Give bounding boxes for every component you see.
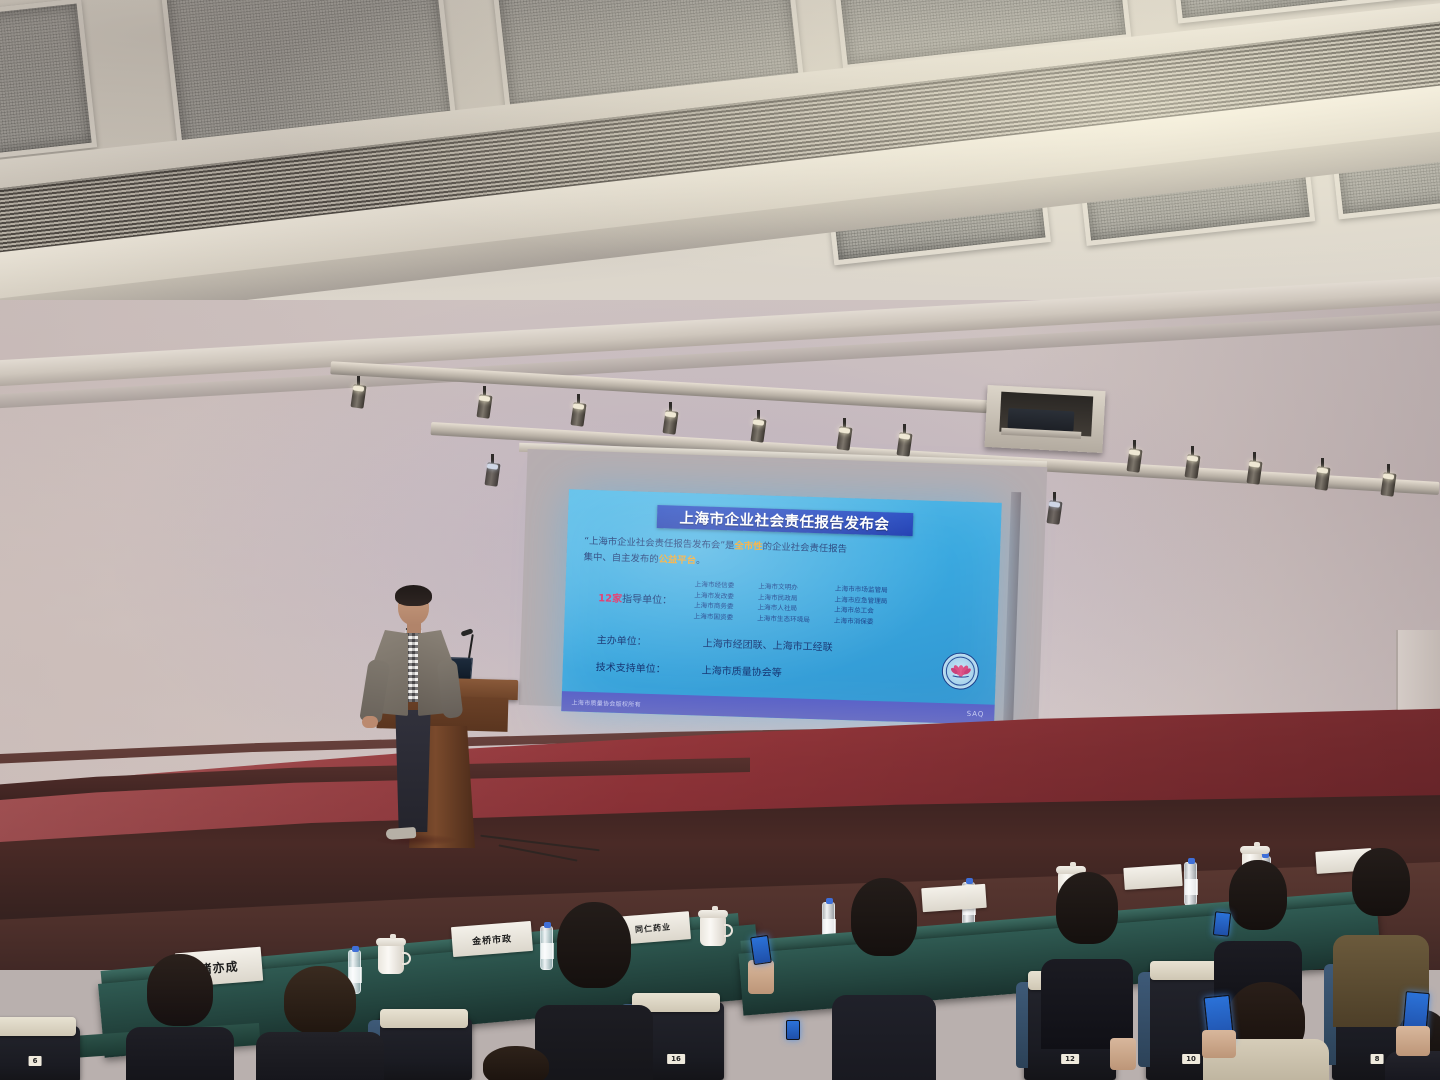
audience-chair: 6 — [0, 1026, 80, 1080]
ceiling-projector-housing — [984, 385, 1105, 453]
tech-support-row: 技术支持单位： 上海市质量协会等 — [574, 657, 985, 685]
hand — [748, 960, 774, 994]
stage-spotlight — [1128, 440, 1141, 474]
stage-spotlight — [1186, 446, 1199, 480]
guiding-units-count: 12家 — [598, 593, 622, 605]
magnolia-flower-icon — [950, 660, 971, 684]
audience-member — [260, 966, 380, 1080]
audience-member — [1336, 848, 1426, 998]
paragraph-part3: 集中、自主发布的 — [583, 551, 658, 564]
paragraph-highlight-platform: 公益平台 — [658, 554, 696, 566]
audience-member — [130, 954, 230, 1080]
organizers-row: 主办单位： 上海市经团联、上海市工经联 — [575, 630, 986, 658]
smartphone[interactable] — [750, 935, 772, 965]
audience-member — [462, 1046, 570, 1080]
audience-member — [836, 878, 932, 1080]
slide-footer: 上海市质量协会版权所有 SAQ — [561, 691, 994, 725]
stage-spotlight — [1316, 458, 1329, 492]
stage-spotlight — [838, 418, 851, 452]
guiding-unit-item: 上海市消保委 — [834, 616, 887, 628]
tech-support-label: 技术支持单位： — [596, 658, 702, 676]
slide-footer-copyright: 上海市质量协会版权所有 — [571, 697, 641, 708]
hand — [1396, 1026, 1430, 1056]
paragraph-highlight-citywide: 全市性 — [734, 540, 763, 552]
stage-spotlight — [1382, 464, 1395, 498]
smartphone[interactable] — [786, 1020, 800, 1040]
seat-number: 6 — [29, 1056, 42, 1066]
name-card: 金桥市政 — [451, 921, 533, 957]
guiding-units-columns: 上海市经信委 上海市发改委 上海市商务委 上海市国资委 上海市文明办 上海市民政… — [693, 579, 887, 628]
guiding-units-row: 12家指导单位： 上海市经信委 上海市发改委 上海市商务委 上海市国资委 上海市… — [575, 576, 987, 632]
stage-spotlight — [1248, 452, 1261, 486]
seat-number: 16 — [667, 1054, 685, 1064]
stage-spotlight — [486, 454, 499, 488]
stage-spotlight — [664, 402, 677, 436]
presenter-shoe — [386, 827, 417, 840]
guiding-units-column: 上海市市场监管局 上海市应急管理局 上海市总工会 上海市消保委 — [834, 584, 888, 628]
stage-spotlight — [352, 376, 365, 410]
smartphone[interactable] — [1213, 911, 1231, 937]
tech-support-value: 上海市质量协会等 — [702, 661, 782, 679]
lidded-teacup — [700, 916, 726, 946]
guiding-units-suffix: 指导单位： — [622, 594, 672, 607]
stage-spotlight — [752, 410, 765, 444]
stage-spotlight — [478, 386, 491, 420]
conference-hall-photo: 上海市企业社会责任报告发布会 “上海市企业社会责任报告发布会”是全市性的企业社会… — [0, 0, 1440, 1080]
projected-slide: 上海市企业社会责任报告发布会 “上海市企业社会责任报告发布会”是全市性的企业社会… — [561, 489, 1002, 724]
paragraph-part2: 的企业社会责任报告 — [762, 541, 847, 555]
projection-screen-assembly: 上海市企业社会责任报告发布会 “上海市企业社会责任报告发布会”是全市性的企业社会… — [523, 452, 1053, 752]
slide-title: 上海市企业社会责任报告发布会 — [679, 507, 890, 535]
paragraph-part1: “上海市企业社会责任报告发布会”是 — [584, 536, 735, 552]
audience-chair — [376, 1018, 472, 1080]
hand — [1110, 1038, 1136, 1070]
guiding-units-label: 12家指导单位： — [598, 576, 695, 607]
presenter-hair — [395, 585, 432, 606]
water-bottle — [1184, 862, 1197, 906]
guiding-unit-item: 上海市国资委 — [693, 611, 733, 623]
hand — [1202, 1030, 1236, 1058]
slide-paragraph: “上海市企业社会责任报告发布会”是全市性的企业社会责任报告 集中、自主发布的公益… — [577, 534, 989, 578]
presenter-hand-left — [362, 716, 378, 728]
stage-spotlight — [572, 394, 585, 428]
seat-number: 10 — [1182, 1054, 1200, 1064]
organizers-value: 上海市经团联、上海市工经联 — [702, 634, 832, 653]
slide-footer-brand: SAQ — [966, 710, 984, 719]
organizers-label: 主办单位： — [597, 631, 703, 649]
guiding-unit-item: 上海市生态环境局 — [757, 613, 810, 625]
slide-title-bar: 上海市企业社会责任报告发布会 — [656, 505, 913, 536]
seat-number: 8 — [1371, 1054, 1384, 1064]
seat-number: 12 — [1061, 1054, 1079, 1064]
audience-area: 诸亦成 金桥市政 同仁药业 — [0, 850, 1440, 1080]
presenter — [356, 588, 466, 848]
guiding-units-column: 上海市经信委 上海市发改委 上海市商务委 上海市国资委 — [693, 579, 734, 623]
paragraph-part4: 。 — [696, 555, 706, 566]
name-card — [1123, 864, 1182, 890]
audience-member — [1044, 872, 1130, 1022]
slide-content: 上海市企业社会责任报告发布会 “上海市企业社会责任报告发布会”是全市性的企业社会… — [561, 489, 1002, 724]
name-card-text: 金桥市政 — [472, 931, 513, 947]
lidded-teacup — [378, 944, 404, 974]
guiding-units-column: 上海市文明办 上海市民政局 上海市人社局 上海市生态环境局 — [757, 581, 811, 625]
presenter-trousers — [392, 710, 434, 832]
